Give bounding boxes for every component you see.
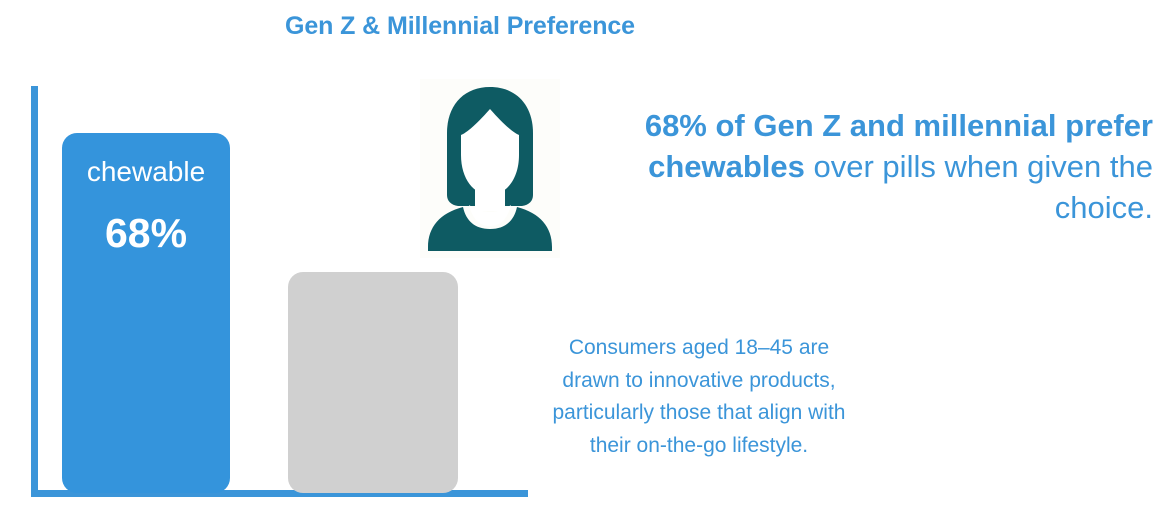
body-copy-line: their on-the-go lifestyle. xyxy=(493,430,905,463)
headline: 68% of Gen Z and millennial prefer chewa… xyxy=(575,105,1153,229)
bar-other xyxy=(288,272,458,493)
female-person-icon xyxy=(420,79,560,258)
body-copy: Consumers aged 18–45 are drawn to innova… xyxy=(493,332,905,462)
body-copy-line: particularly those that align with xyxy=(493,397,905,430)
bar-chewable: chewable 68% xyxy=(62,133,230,493)
chart-y-axis xyxy=(31,86,38,497)
bar-chewable-label: chewable xyxy=(87,157,205,188)
page-title: Gen Z & Millennial Preference xyxy=(0,12,920,41)
bar-chewable-value: 68% xyxy=(105,212,187,255)
body-copy-line: Consumers aged 18–45 are xyxy=(493,332,905,365)
infographic-canvas: Gen Z & Millennial Preference chewable 6… xyxy=(0,0,1173,522)
body-copy-line: drawn to innovative products, xyxy=(493,365,905,398)
avatar xyxy=(420,79,560,258)
headline-light: over pills when given the choice. xyxy=(805,149,1153,225)
